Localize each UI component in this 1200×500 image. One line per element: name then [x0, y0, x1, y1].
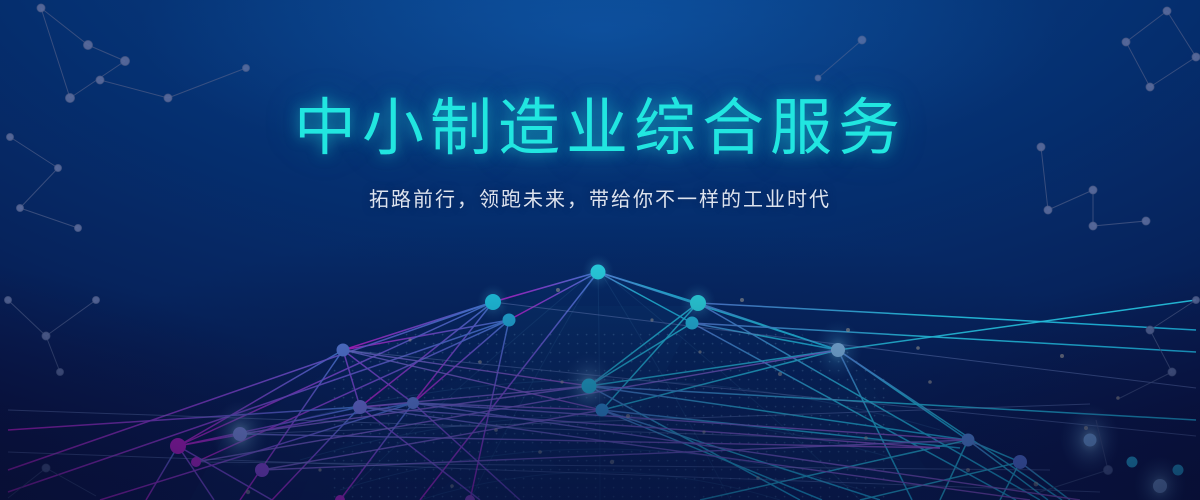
- hero-banner: 中小制造业综合服务 拓路前行，领跑未来，带给你不一样的工业时代: [0, 0, 1200, 500]
- page-title: 中小制造业综合服务: [0, 96, 1200, 163]
- banner-text-block: 中小制造业综合服务 拓路前行，领跑未来，带给你不一样的工业时代: [0, 96, 1200, 212]
- dome-network-graphic: [0, 0, 1200, 500]
- page-subtitle: 拓路前行，领跑未来，带给你不一样的工业时代: [0, 183, 1200, 212]
